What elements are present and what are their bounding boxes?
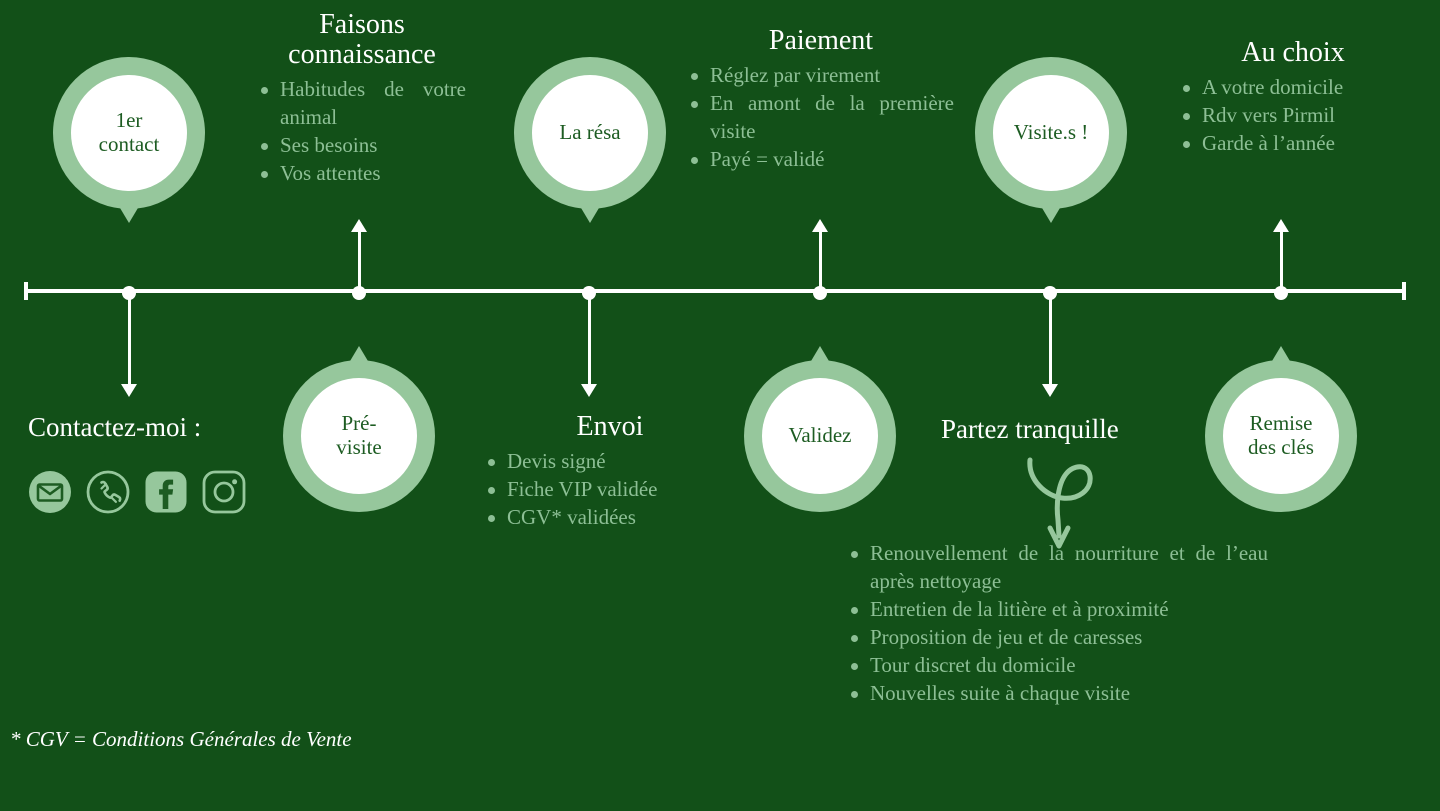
pin-pre-visite[interactable]: Pré-visite (283, 360, 435, 512)
footnote-cgv: * CGV = Conditions Générales de Vente (10, 727, 352, 752)
connector-arrow-contact (121, 384, 137, 397)
connector-arrow-faisons (351, 219, 367, 232)
block-au-choix: Au choix A votre domicile Rdv vers Pirmi… (1180, 38, 1406, 158)
bullet-list-envoi: Devis signé Fiche VIP validée CGV* valid… (485, 448, 735, 532)
connector-arrow-envoi (581, 384, 597, 397)
pin-validez[interactable]: Validez (744, 360, 896, 512)
bullet-list-au-choix: A votre domicile Rdv vers Pirmil Garde à… (1180, 74, 1406, 158)
heading-au-choix: Au choix (1180, 38, 1406, 68)
block-paiement: Paiement Réglez par virement En amont de… (688, 26, 954, 174)
timeline-node-paiement (813, 286, 827, 300)
pin-label-la-resa: La résa (532, 75, 648, 191)
heading-envoi: Envoi (485, 412, 735, 442)
list-item: Réglez par virement (688, 62, 954, 90)
connector-arrow-partez (1042, 384, 1058, 397)
list-item: Payé = validé (688, 146, 954, 174)
pin-label-validez: Validez (762, 378, 878, 494)
block-faisons-connaissance: Faisonsconnaissance Habitudes de votre a… (258, 10, 466, 188)
pin-visites[interactable]: Visite.s ! (975, 57, 1127, 209)
bullet-list-partez: Renouvellement de la nourriture et de l’… (848, 540, 1268, 708)
list-item: En amont de la première visite (688, 90, 954, 146)
connector-line-paiement (819, 230, 822, 291)
connector-arrow-auchoix (1273, 219, 1289, 232)
list-item: Devis signé (485, 448, 735, 476)
heading-faisons-connaissance: Faisonsconnaissance (258, 10, 466, 70)
axis-cap-right (1402, 282, 1406, 300)
list-item: Renouvellement de la nourriture et de l’… (848, 540, 1268, 596)
timeline-node-contact (122, 286, 136, 300)
list-item: Tour discret du domicile (848, 652, 1268, 680)
pin-label-1er-contact: 1ercontact (71, 75, 187, 191)
list-item: Entretien de la litière et à proximité (848, 596, 1268, 624)
pin-label-remise-des-cles: Remisedes clés (1223, 378, 1339, 494)
timeline-node-partez (1043, 286, 1057, 300)
connector-line-envoi (588, 291, 591, 385)
connector-line-partez (1049, 291, 1052, 385)
block-partez-tranquille: Partez tranquille (941, 414, 1119, 445)
pin-remise-des-cles[interactable]: Remisedes clés (1205, 360, 1357, 512)
heading-partez-tranquille: Partez tranquille (941, 414, 1119, 445)
heading-contactez-moi: Contactez-moi : (28, 412, 201, 443)
list-item: Vos attentes (258, 160, 466, 188)
list-item: Ses besoins (258, 132, 466, 160)
phone-icon[interactable] (86, 470, 130, 514)
connector-arrow-paiement (812, 219, 828, 232)
social-links (28, 470, 246, 514)
block-contactez-moi: Contactez-moi : (28, 412, 201, 443)
connector-line-auchoix (1280, 230, 1283, 291)
bullet-list-paiement: Réglez par virement En amont de la premi… (688, 62, 954, 174)
infographic-canvas: 1ercontact La résa Visite.s ! Pré-visite… (0, 0, 1440, 811)
list-item: Habitudes de votre animal (258, 76, 466, 132)
instagram-icon[interactable] (202, 470, 246, 514)
pin-label-pre-visite: Pré-visite (301, 378, 417, 494)
list-item: A votre domicile (1180, 74, 1406, 102)
timeline-node-faisons (352, 286, 366, 300)
timeline-node-envoi (582, 286, 596, 300)
facebook-icon[interactable] (144, 470, 188, 514)
list-item: Fiche VIP validée (485, 476, 735, 504)
pin-1er-contact[interactable]: 1ercontact (53, 57, 205, 209)
connector-line-contact (128, 291, 131, 385)
axis-cap-left (24, 282, 28, 300)
list-item: CGV* validées (485, 504, 735, 532)
list-item: Nouvelles suite à chaque visite (848, 680, 1268, 708)
bullet-list-faisons: Habitudes de votre animal Ses besoins Vo… (258, 76, 466, 188)
heading-paiement: Paiement (688, 26, 954, 56)
pin-la-resa[interactable]: La résa (514, 57, 666, 209)
list-item: Rdv vers Pirmil (1180, 102, 1406, 130)
block-envoi: Envoi Devis signé Fiche VIP validée CGV*… (485, 412, 735, 532)
timeline-node-auchoix (1274, 286, 1288, 300)
list-item: Garde à l’année (1180, 130, 1406, 158)
connector-line-faisons (358, 230, 361, 291)
timeline-axis (24, 289, 1406, 293)
list-item: Proposition de jeu et de caresses (848, 624, 1268, 652)
pin-label-visites: Visite.s ! (993, 75, 1109, 191)
email-icon[interactable] (28, 470, 72, 514)
